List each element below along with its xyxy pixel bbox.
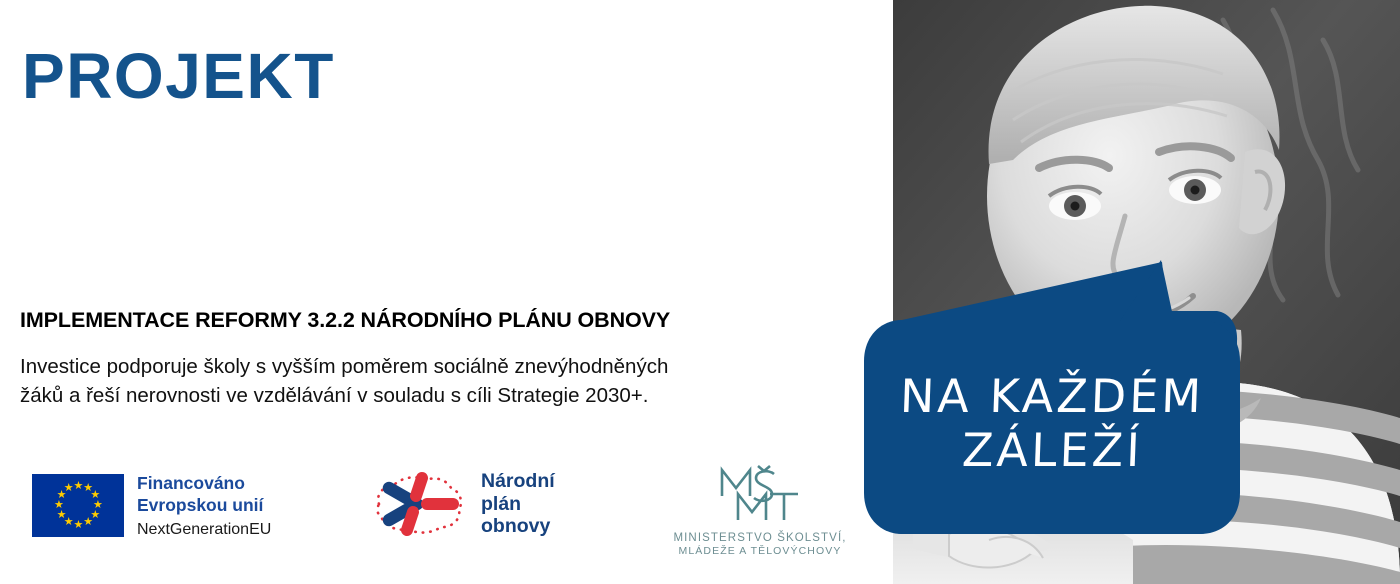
eu-star-icon: ★: [74, 521, 83, 530]
msmt-monogram-icon: [708, 462, 812, 524]
msmt-caption-line-1: MINISTERSTVO ŠKOLSTVÍ,: [660, 532, 860, 544]
description-paragraph: Investice podporuje školy s vyšším poměr…: [20, 352, 830, 410]
eu-text-line-1: Financováno: [137, 472, 271, 494]
eu-financing-logo: ★★★★★★★★★★★★ Financováno Evropskou unií …: [32, 474, 271, 541]
eu-text-line-2: Evropskou unií: [137, 494, 271, 516]
left-content-column: PROJEKT IMPLEMENTACE REFORMY 3.2.2 NÁROD…: [0, 0, 893, 584]
national-recovery-plan-logo: Národní plán obnovy: [365, 464, 555, 544]
npo-logo-text: Národní plán obnovy: [481, 470, 555, 538]
eu-star-icon: ★: [57, 511, 66, 520]
eu-flag-icon: ★★★★★★★★★★★★: [32, 474, 124, 537]
description-line-2: žáků a řeší nerovnosti ve vzdělávání v s…: [20, 381, 830, 410]
bubble-line-1: NA KAŽDÉM: [899, 370, 1205, 423]
msmt-caption-line-2: MLÁDEŽE A TĚLOVÝCHOVY: [660, 545, 860, 557]
project-banner: PROJEKT IMPLEMENTACE REFORMY 3.2.2 NÁROD…: [0, 0, 1400, 584]
eu-star-icon: ★: [83, 518, 92, 527]
msmt-ministry-logo: MINISTERSTVO ŠKOLSTVÍ, MLÁDEŽE A TĚLOVÝC…: [660, 462, 860, 557]
description-line-1: Investice podporuje školy s vyšším poměr…: [20, 352, 830, 381]
npo-text-line-2: plán: [481, 493, 555, 516]
page-title: PROJEKT: [22, 44, 335, 108]
npo-text-line-1: Národní: [481, 470, 555, 493]
npo-text-line-3: obnovy: [481, 515, 555, 538]
reform-headline: IMPLEMENTACE REFORMY 3.2.2 NÁRODNÍHO PLÁ…: [20, 308, 670, 333]
speech-bubble: NA KAŽDÉM ZÁLEŽÍ: [862, 255, 1242, 540]
eu-text-line-3: NextGenerationEU: [137, 520, 271, 541]
eu-star-icon: ★: [54, 501, 63, 510]
speech-bubble-text: NA KAŽDÉM ZÁLEŽÍ: [862, 255, 1242, 540]
npo-mark-icon: [365, 464, 469, 544]
bubble-line-2: ZÁLEŽÍ: [961, 424, 1144, 477]
eu-star-icon: ★: [64, 484, 73, 493]
eu-star-icon: ★: [74, 482, 83, 491]
funding-logo-strip: ★★★★★★★★★★★★ Financováno Evropskou unií …: [0, 452, 893, 562]
eu-logo-text: Financováno Evropskou unií NextGeneratio…: [137, 472, 271, 541]
